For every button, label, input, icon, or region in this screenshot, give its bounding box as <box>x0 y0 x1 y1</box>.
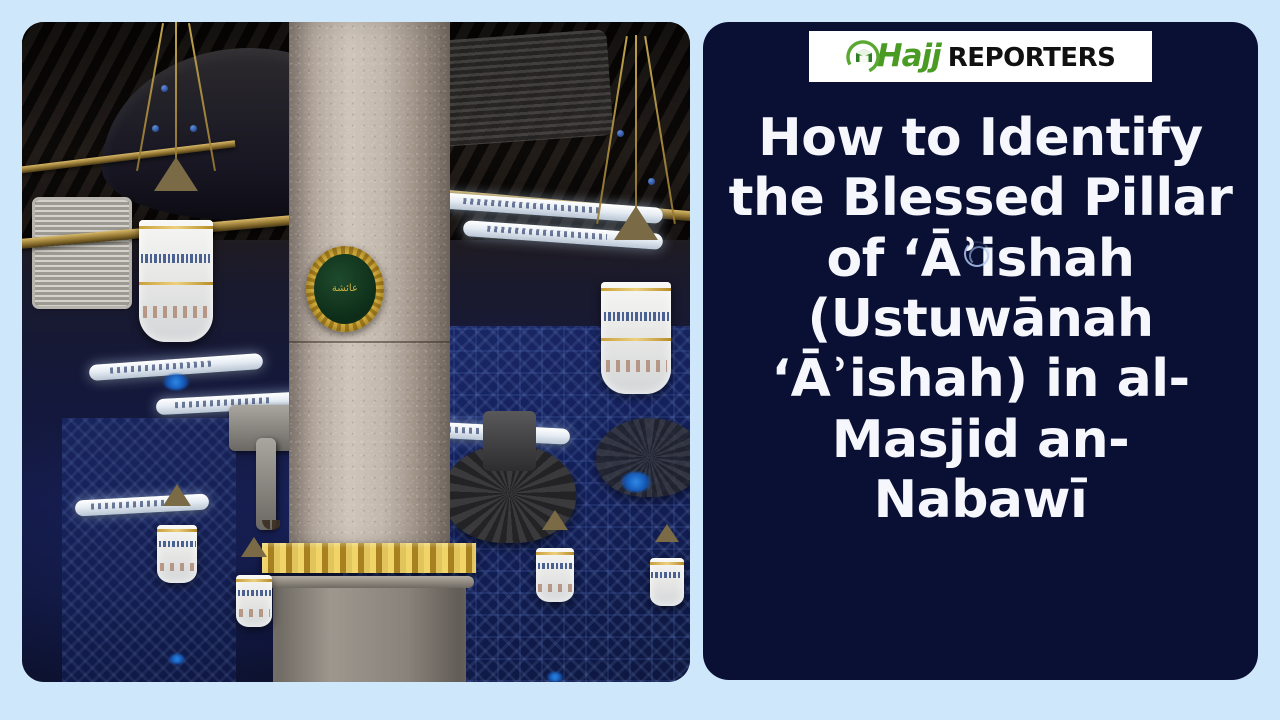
logo-brand-secondary: REPORTERS <box>948 45 1116 71</box>
lamp-calligraphy <box>159 541 196 547</box>
lamp-gold-band <box>236 579 272 582</box>
page-title: How to Identify the Blessed Pillar of ‘Ā… <box>728 108 1233 530</box>
lamp-gold-band <box>139 282 213 285</box>
lamp-bead <box>161 85 168 92</box>
site-logo[interactable]: Hajj REPORTERS <box>809 31 1152 82</box>
lamp-calligraphy <box>538 563 573 569</box>
lamp-cord <box>187 23 215 172</box>
camera-mast <box>256 438 276 530</box>
lamp-gold-band <box>650 562 684 565</box>
pillar-seam-ring <box>289 341 449 343</box>
lamp-motif-row <box>538 584 571 592</box>
lamp-motif-row <box>606 360 668 372</box>
lamp-body <box>157 525 197 583</box>
hanging-mosque-lamp <box>637 524 690 682</box>
lamp-cord <box>175 22 177 172</box>
pillar-base <box>273 576 467 682</box>
fan-motor-housing <box>483 411 536 470</box>
lamp-cord <box>597 36 629 224</box>
lamp-blue-glow <box>547 672 563 682</box>
lamp-body <box>139 220 213 342</box>
hanging-mosque-lamp <box>222 537 286 682</box>
lamp-body <box>601 282 671 394</box>
lamp-cone <box>614 206 658 240</box>
gold-calligraphy-medallion: عائشة <box>306 246 384 332</box>
lamp-blue-glow <box>169 654 185 664</box>
lamp-motif-row <box>160 563 195 571</box>
lamp-calligraphy <box>651 572 682 578</box>
lamp-gold-band <box>139 226 213 229</box>
medallion-arabic-text: عائشة <box>314 254 376 324</box>
hanging-mosque-lamp <box>116 22 236 418</box>
lamp-motif-row <box>239 609 271 617</box>
article-hero-photo: عائشة <box>22 22 690 682</box>
hanging-mosque-lamp <box>523 510 587 682</box>
lamp-blue-glow <box>621 472 651 492</box>
lamp-cone <box>163 484 191 506</box>
lamp-cone <box>241 537 267 557</box>
lamp-body <box>650 558 684 606</box>
lamp-gold-band <box>601 288 671 291</box>
lamp-cone <box>542 510 568 530</box>
lamp-cone <box>154 157 198 191</box>
lamp-motif-row <box>143 306 208 318</box>
logo-brand-primary: Hajj <box>877 41 941 72</box>
lamp-gold-band <box>157 529 197 532</box>
lamp-bead <box>190 125 197 132</box>
lamp-blue-glow <box>163 374 189 390</box>
hanging-mosque-lamp <box>142 484 212 669</box>
lamp-cord <box>645 36 677 224</box>
lamp-cord <box>135 23 163 172</box>
lamp-cord <box>635 35 637 225</box>
lamp-body <box>536 548 574 602</box>
hanging-mosque-lamp <box>576 35 690 510</box>
lamp-bead <box>152 125 159 132</box>
lamp-body <box>236 575 272 627</box>
lamp-cone <box>655 524 679 542</box>
pillar-gold-crown <box>262 543 476 573</box>
lamp-gold-band <box>536 552 574 555</box>
logo-wordmark: Hajj REPORTERS <box>877 41 1116 72</box>
pillar-capital-petals <box>262 520 476 542</box>
lamp-bead <box>617 130 624 137</box>
lamp-gold-band <box>601 338 671 341</box>
lamp-calligraphy <box>604 312 668 321</box>
lamp-calligraphy <box>238 590 271 596</box>
hajj-globe-kaaba-icon <box>846 40 880 74</box>
article-title-panel: Hajj REPORTERS How to Identify the Bless… <box>703 22 1258 680</box>
mosque-interior-scene: عائشة <box>22 22 690 682</box>
lamp-bead <box>648 178 655 185</box>
lamp-calligraphy <box>141 254 209 263</box>
